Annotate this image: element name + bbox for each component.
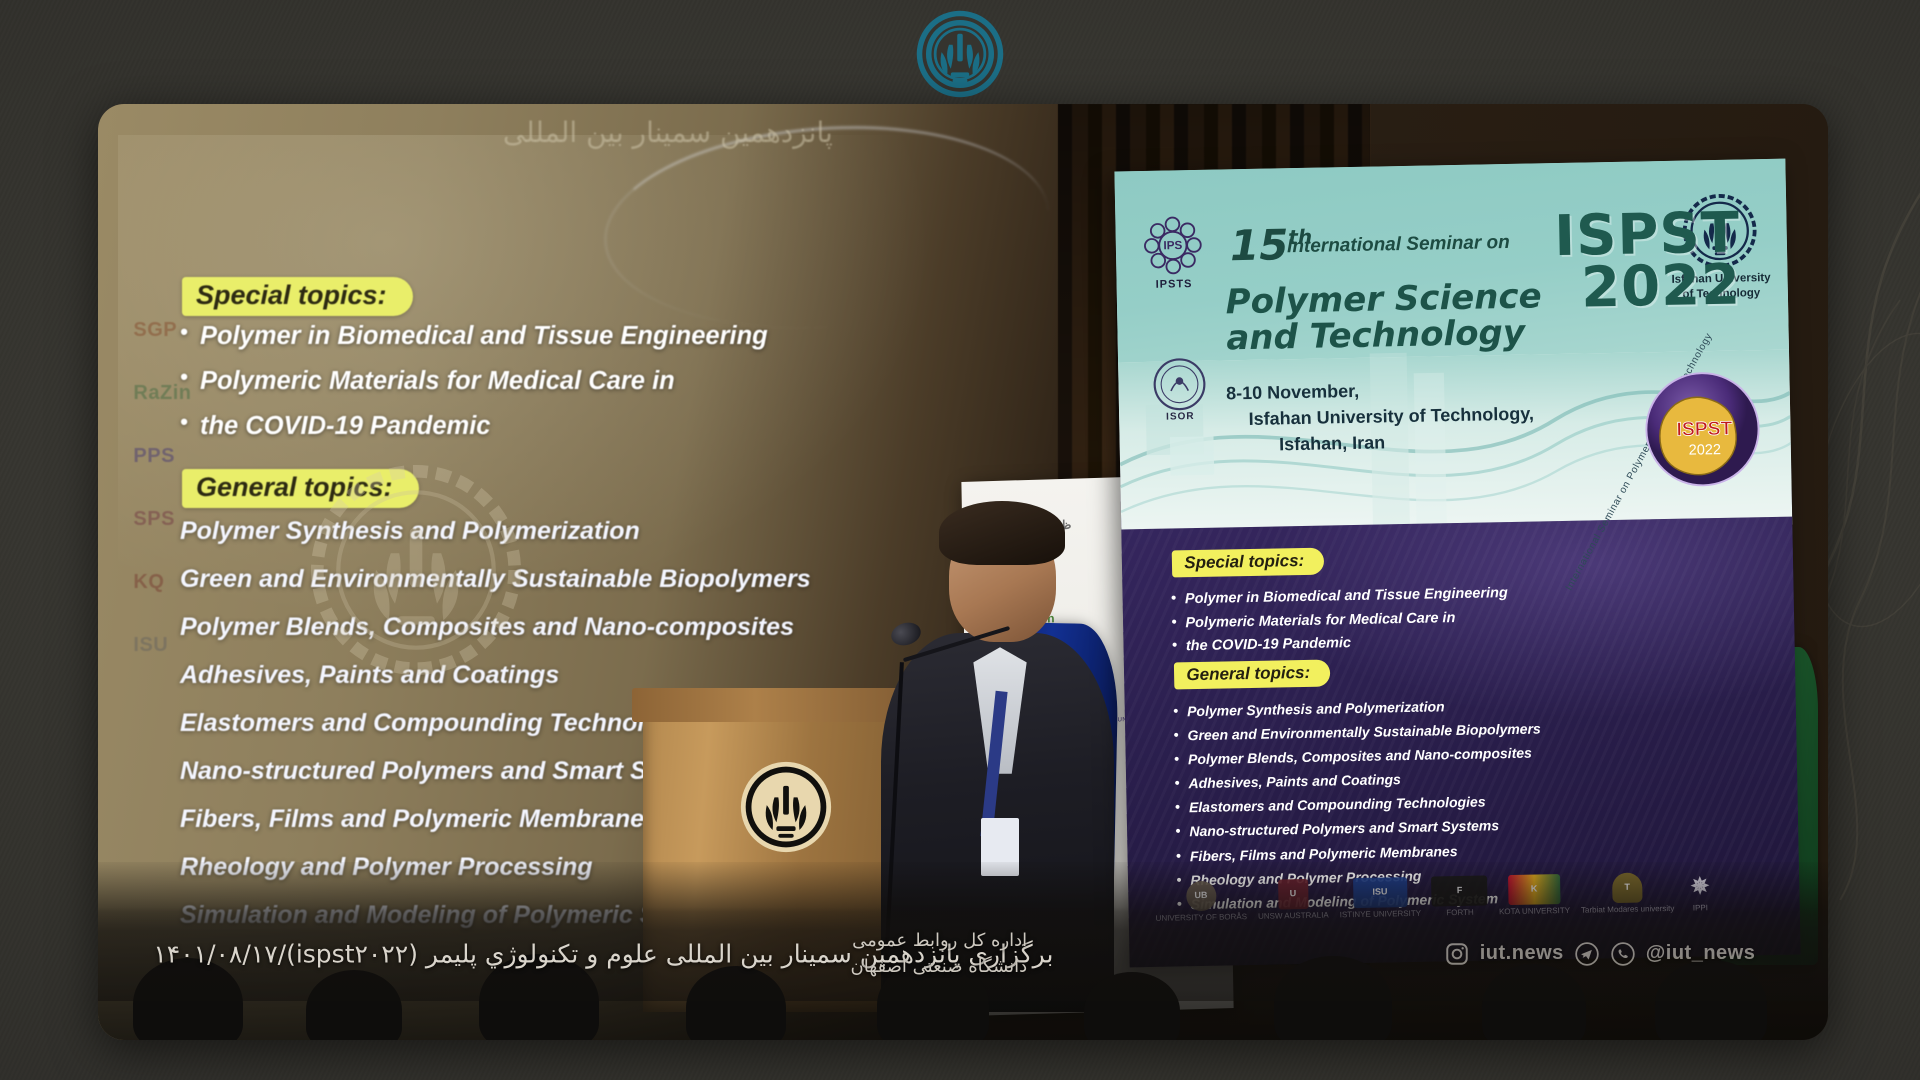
whatsapp-handle[interactable]: @iut_news <box>1646 942 1756 965</box>
list-item-cont: the COVID-19 Pandemic <box>180 404 768 449</box>
caption-office-line1: اداره کل روابط عمومی <box>851 928 1028 954</box>
banner-seminar-line: International Seminar on <box>1287 231 1510 257</box>
ips-flower-icon: IPS <box>1142 213 1205 276</box>
podium-iut-seal <box>738 759 834 855</box>
slide-special-topics-heading: Special topics: <box>182 277 413 316</box>
isor-logo: ISOR <box>1148 356 1211 422</box>
banner-special-topics-list: Polymer in Biomedical and Tissue Enginee… <box>1171 580 1642 659</box>
conference-banner: IPS IPSTS ISOR <box>1115 158 1801 966</box>
banner-venue: Isfahan University of Technology, <box>1248 400 1534 432</box>
banner-acronym: ISPST 2022 <box>1554 207 1742 316</box>
microphone-head <box>888 619 923 649</box>
telegram-icon[interactable] <box>1574 941 1600 967</box>
slide-special-chip: Special topics: <box>182 277 413 316</box>
banner-city: Isfahan, Iran <box>1279 426 1535 457</box>
isor-label: ISOR <box>1149 410 1211 422</box>
screen-iut-watermark <box>311 465 521 675</box>
edition-number: 15 <box>1230 220 1289 270</box>
page-frame: پانزدهمین سمینار بین المللی SGP RaZin PP… <box>0 0 1920 1080</box>
emblem-year: 2022 <box>1689 442 1722 459</box>
ipsts-label: IPSTS <box>1140 277 1208 290</box>
caption-office-line2: دانشگاه صنعتی اصفهان <box>851 954 1028 980</box>
banner-general-chip: General topics: <box>1174 659 1330 689</box>
speaker-hair <box>939 501 1065 564</box>
list-item: Polymeric Materials for Medical Care in <box>180 359 768 404</box>
banner-special-chip: Special topics: <box>1172 548 1324 578</box>
social-handles: iut.news @iut_news <box>1444 941 1756 967</box>
whatsapp-icon[interactable] <box>1610 941 1636 967</box>
screen-header-text: پانزدهمین سمینار بین المللی <box>503 116 833 149</box>
iut-logo-header <box>914 8 1006 100</box>
ips-logo: IPS IPSTS <box>1139 213 1208 290</box>
isfahan-university-of-technology-logo <box>914 8 1006 100</box>
svg-text:IPS: IPS <box>1164 239 1183 252</box>
caption-office: اداره کل روابط عمومی دانشگاه صنعتی اصفها… <box>851 928 1028 980</box>
isor-seal-icon <box>1152 357 1207 412</box>
banner-title-line2: and Technology <box>1226 315 1543 357</box>
ispst-iran-map-emblem: ISPST 2022 <box>1644 370 1762 488</box>
caption-bar: برگزاری پانزدهمین سمینار بین المللی علوم… <box>98 907 1828 1001</box>
slide-special-topics-list: Polymer in Biomedical and Tissue Enginee… <box>180 314 768 450</box>
banner-date-venue: 8-10 November, Isfahan University of Tec… <box>1226 374 1535 458</box>
instagram-icon[interactable] <box>1444 941 1470 967</box>
banner-general-topics-heading: General topics: <box>1174 659 1330 689</box>
ispst-emblem: ISPST 2022 <box>1644 370 1762 488</box>
banner-title: Polymer Science and Technology <box>1226 279 1543 357</box>
banner-special-topics-heading: Special topics: <box>1172 548 1324 578</box>
instagram-handle[interactable]: iut.news <box>1480 942 1564 965</box>
list-item: Polymer in Biomedical and Tissue Enginee… <box>180 314 768 359</box>
conference-photo: پانزدهمین سمینار بین المللی SGP RaZin PP… <box>98 104 1828 1040</box>
banner-acronym-year: 2022 <box>1555 260 1742 316</box>
emblem-acronym: ISPST <box>1676 418 1732 440</box>
